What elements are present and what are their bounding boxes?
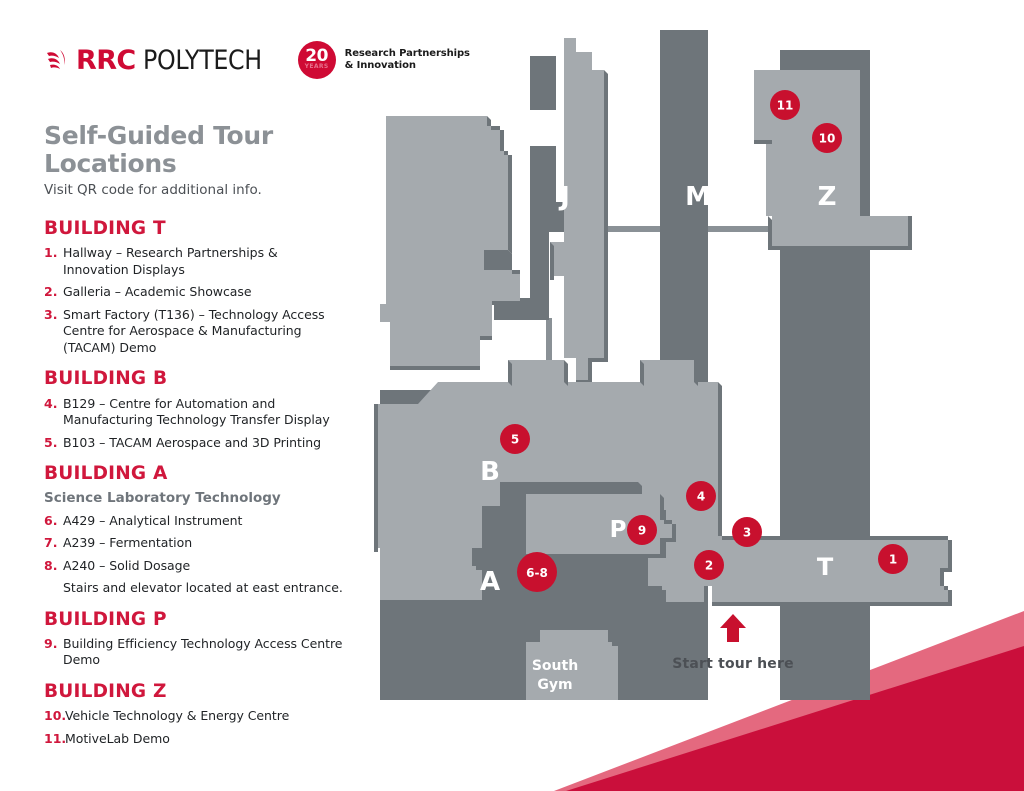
legend-item-label: Vehicle Technology & Energy Centre: [65, 708, 289, 725]
legend-item-number: 10.: [44, 708, 65, 725]
map-label-m: M: [685, 182, 711, 212]
legend-item-label: Hallway – Research Partnerships & Innova…: [63, 245, 344, 278]
legend-item[interactable]: 9.Building Efficiency Technology Access …: [44, 636, 344, 669]
logo-rrc-text: RRC: [76, 47, 136, 74]
map-marker-6-8[interactable]: 6-8: [517, 552, 557, 592]
map-marker-5[interactable]: 5: [500, 424, 530, 454]
legend-group-heading: BUILDING P: [44, 609, 344, 630]
map-label-p: P: [610, 517, 627, 543]
legend-item-label: B103 – TACAM Aerospace and 3D Printing: [63, 435, 321, 452]
legend-item-label: MotiveLab Demo: [65, 731, 170, 748]
map-label-south-gym-line2: Gym: [537, 677, 572, 693]
map-marker-label: 9: [638, 524, 646, 538]
page-subtitle: Visit QR code for additional info.: [44, 182, 344, 198]
map-marker-label: 2: [705, 559, 713, 573]
legend-group-subheading: Science Laboratory Technology: [44, 490, 344, 506]
map-marker-label: 10: [819, 132, 836, 146]
anniversary-number: 20: [305, 49, 328, 63]
legend-group-building-t: BUILDING T1.Hallway – Research Partnersh…: [44, 218, 344, 356]
map-marker-label: 4: [697, 490, 705, 504]
anniversary-years: YEARS: [305, 63, 329, 71]
map-marker-label: 6-8: [526, 566, 548, 580]
legend-item-number: 2.: [44, 284, 63, 301]
legend-item-label: Galleria – Academic Showcase: [63, 284, 252, 301]
legend-group-building-z: BUILDING Z10.Vehicle Technology & Energy…: [44, 681, 344, 747]
campus-map: J M Z B A P T South Gym 123456-891011 St…: [360, 20, 1000, 700]
legend-item-number: 5.: [44, 435, 63, 452]
legend-item-number: 11.: [44, 731, 65, 748]
map-label-a: A: [480, 567, 500, 597]
legend-item-label: A240 – Solid Dosage: [63, 558, 190, 575]
legend-group-building-b: BUILDING B4.B129 – Centre for Automation…: [44, 368, 344, 451]
legend-group-building-a: BUILDING AScience Laboratory Technology6…: [44, 463, 344, 596]
legend-item[interactable]: 3.Smart Factory (T136) – Technology Acce…: [44, 307, 344, 357]
map-marker-11[interactable]: 11: [770, 90, 800, 120]
legend-item[interactable]: 4.B129 – Centre for Automation and Manuf…: [44, 396, 344, 429]
map-marker-2[interactable]: 2: [694, 550, 724, 580]
legend-item[interactable]: 6.A429 – Analytical Instrument: [44, 513, 344, 530]
map-marker-label: 5: [511, 433, 519, 447]
map-label-south-gym-line1: South: [532, 658, 578, 674]
legend-group-note: Stairs and elevator located at east entr…: [63, 580, 344, 597]
legend-item-label: A239 – Fermentation: [63, 535, 192, 552]
map-label-z: Z: [818, 182, 837, 212]
start-tour-label: Start tour here: [672, 656, 794, 672]
logo-polytech-text: POLYTECH: [143, 47, 262, 74]
building-j: [380, 116, 520, 370]
legend-item-label: Smart Factory (T136) – Technology Access…: [63, 307, 344, 357]
map-marker-9[interactable]: 9: [627, 515, 657, 545]
rrc-flame-icon: [44, 47, 70, 73]
legend-groups: BUILDING T1.Hallway – Research Partnersh…: [44, 218, 344, 747]
map-marker-label: 1: [889, 553, 897, 567]
map-label-j: J: [558, 182, 570, 212]
legend-item[interactable]: 10.Vehicle Technology & Energy Centre: [44, 708, 344, 725]
legend-item[interactable]: 11.MotiveLab Demo: [44, 731, 344, 748]
page-title: Self-Guided Tour Locations: [44, 122, 344, 177]
legend-item[interactable]: 8.A240 – Solid Dosage: [44, 558, 344, 575]
legend-item-number: 8.: [44, 558, 63, 575]
legend-item-number: 1.: [44, 245, 63, 262]
map-marker-1[interactable]: 1: [878, 544, 908, 574]
legend-panel: Self-Guided Tour Locations Visit QR code…: [44, 122, 344, 759]
legend-item-number: 3.: [44, 307, 63, 324]
legend-item-label: A429 – Analytical Instrument: [63, 513, 242, 530]
map-label-b: B: [480, 457, 500, 487]
map-marker-10[interactable]: 10: [812, 123, 842, 153]
map-marker-label: 3: [743, 526, 751, 540]
legend-item[interactable]: 2.Galleria – Academic Showcase: [44, 284, 344, 301]
up-arrow-icon: [720, 614, 746, 642]
legend-group-heading: BUILDING T: [44, 218, 344, 239]
legend-group-heading: BUILDING B: [44, 368, 344, 389]
legend-group-building-p: BUILDING P9.Building Efficiency Technolo…: [44, 609, 344, 669]
legend-item-label: B129 – Centre for Automation and Manufac…: [63, 396, 344, 429]
map-marker-label: 11: [777, 99, 794, 113]
legend-item[interactable]: 5.B103 – TACAM Aerospace and 3D Printing: [44, 435, 344, 452]
map-marker-4[interactable]: 4: [686, 481, 716, 511]
anniversary-badge: 20 YEARS: [298, 41, 336, 79]
map-label-t: T: [817, 553, 834, 581]
legend-group-heading: BUILDING A: [44, 463, 344, 484]
legend-item-number: 9.: [44, 636, 63, 653]
legend-item-number: 6.: [44, 513, 63, 530]
legend-item-number: 7.: [44, 535, 63, 552]
map-marker-3[interactable]: 3: [732, 517, 762, 547]
legend-item[interactable]: 1.Hallway – Research Partnerships & Inno…: [44, 245, 344, 278]
legend-item-number: 4.: [44, 396, 63, 413]
legend-group-heading: BUILDING Z: [44, 681, 344, 702]
legend-item[interactable]: 7.A239 – Fermentation: [44, 535, 344, 552]
legend-item-label: Building Efficiency Technology Access Ce…: [63, 636, 344, 669]
